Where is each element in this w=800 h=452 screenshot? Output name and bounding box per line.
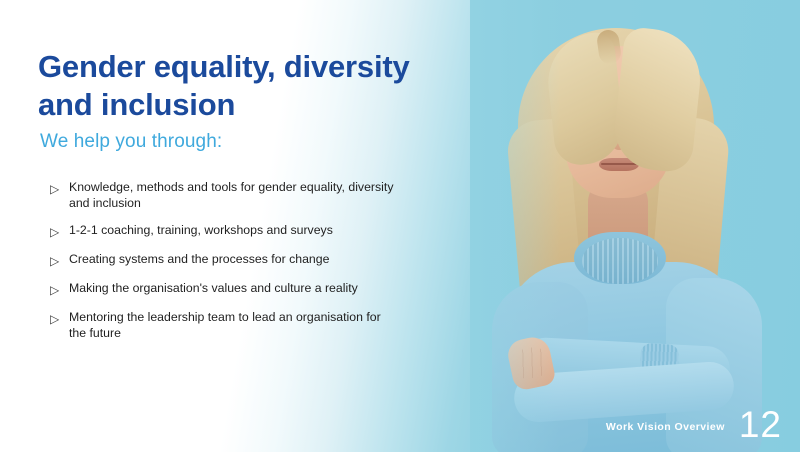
list-item-text: Mentoring the leadership team to lead an… [69,310,395,341]
list-item-text: 1-2-1 coaching, training, workshops and … [69,223,395,239]
footer-label: Work Vision Overview [606,421,725,442]
triangle-bullet-icon: ▷ [50,252,69,269]
slide-footer: Work Vision Overview 12 [606,408,782,442]
page-title-line-2: and inclusion [38,86,458,124]
list-item: ▷ Mentoring the leadership team to lead … [50,310,395,341]
list-item-text: Creating systems and the processes for c… [69,252,395,268]
list-item: ▷ 1-2-1 coaching, training, workshops an… [50,223,395,240]
list-item-text: Knowledge, methods and tools for gender … [69,180,395,211]
triangle-bullet-icon: ▷ [50,180,69,197]
list-item: ▷ Creating systems and the processes for… [50,252,395,269]
page-title-line-1: Gender equality, diversity [38,48,458,86]
list-item: ▷ Making the organisation's values and c… [50,281,395,298]
hair-front-right [611,26,705,174]
triangle-bullet-icon: ▷ [50,310,69,327]
subtitle: We help you through: [40,131,222,153]
page-title: Gender equality, diversity and inclusion [38,48,458,124]
turtleneck-collar [574,232,666,284]
triangle-bullet-icon: ▷ [50,281,69,298]
list-item: ▷ Knowledge, methods and tools for gende… [50,180,395,211]
portrait-photo [470,0,800,452]
triangle-bullet-icon: ▷ [50,223,69,240]
slide: Gender equality, diversity and inclusion… [0,0,800,452]
photo-edge-feather [470,0,560,452]
bullet-list: ▷ Knowledge, methods and tools for gende… [50,180,395,341]
list-item-text: Making the organisation's values and cul… [69,281,395,297]
page-number: 12 [739,408,782,442]
